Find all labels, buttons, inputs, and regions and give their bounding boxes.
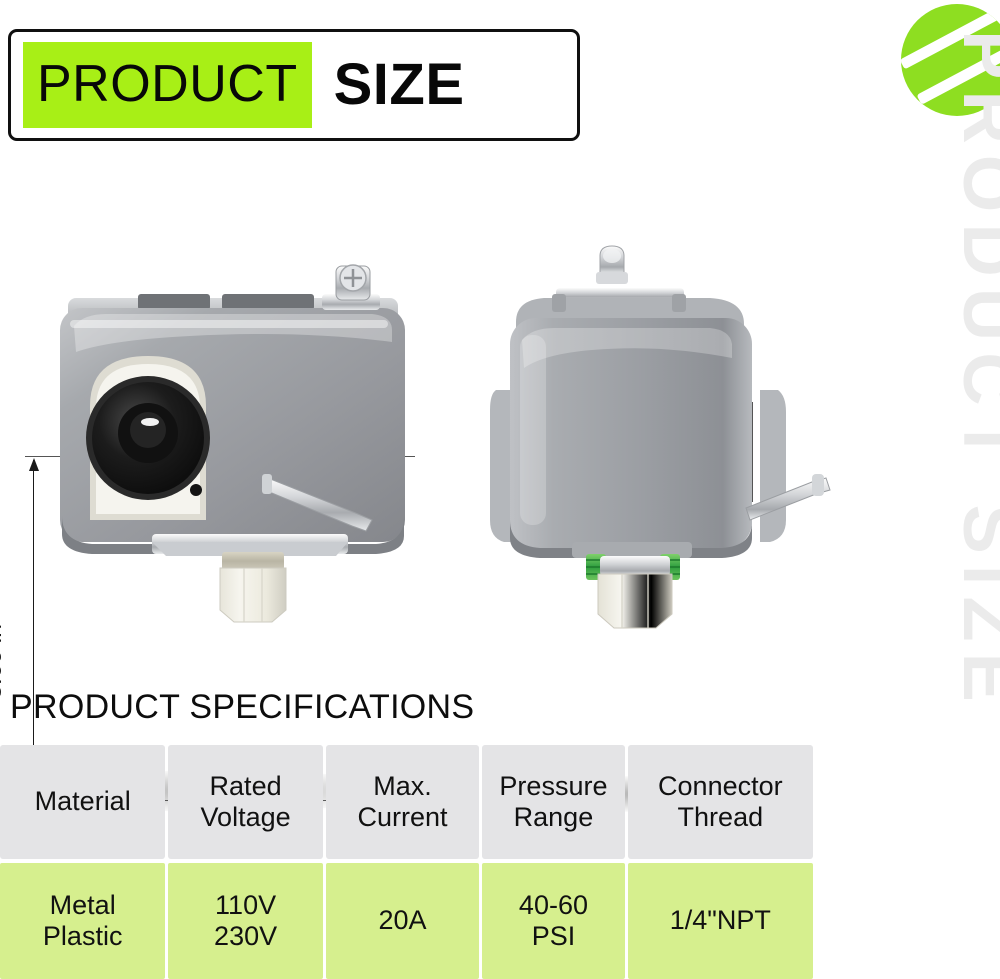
specifications-heading: PRODUCT SPECIFICATIONS: [10, 688, 474, 727]
side-view-product-illustration: [460, 190, 880, 640]
value-line-1: 40-60: [519, 890, 588, 921]
table-header-cell-max-current: Max. Current: [326, 745, 479, 859]
table-value-cell-max-current: 20A: [326, 863, 479, 979]
specifications-table: Material Rated Voltage Max. Current Pres…: [0, 745, 813, 979]
header-line-1: Rated: [201, 771, 291, 802]
header-line-1: Connector: [658, 771, 783, 802]
header-line-2: Range: [499, 802, 607, 833]
value-line-2: 230V: [214, 921, 277, 952]
table-value-cell-material: Metal Plastic: [0, 863, 165, 979]
header-line-2: Thread: [658, 802, 783, 833]
value-line-1: Metal: [43, 890, 123, 921]
banner-word-product: PRODUCT: [37, 58, 298, 110]
table-value-row: Metal Plastic 110V 230V 20A 40-60 PSI: [0, 863, 813, 979]
table-value-cell-rated-voltage: 110V 230V: [168, 863, 322, 979]
table-header-cell-material: Material: [0, 745, 165, 859]
value-line-1: 110V: [214, 890, 277, 921]
header-line-1: Pressure: [499, 771, 607, 802]
value-line-2: PSI: [519, 921, 588, 952]
banner-word-size: SIZE: [334, 56, 465, 114]
value-line-2: Plastic: [43, 921, 123, 952]
header-line-1: Max.: [357, 771, 447, 802]
front-view-product-illustration: [0, 190, 460, 640]
side-view-figure: 2.52 in: [460, 190, 880, 640]
banner-highlight-block: PRODUCT: [23, 42, 312, 128]
table-header-cell-rated-voltage: Rated Voltage: [168, 745, 322, 859]
table-header-cell-connector-thread: Connector Thread: [628, 745, 813, 859]
front-view-figure: 3.54 in 3.66 in: [0, 190, 460, 640]
header-line-2: Voltage: [201, 802, 291, 833]
header-line-2: Current: [357, 802, 447, 833]
product-size-infographic: PRODUCT SIZE PRODUCT SIZE 3.54 in 3.66 i…: [0, 0, 1000, 979]
value-line-1: 20A: [378, 905, 426, 936]
table-header-cell-pressure-range: Pressure Range: [482, 745, 624, 859]
value-line-1: 1/4"NPT: [670, 905, 771, 936]
table-value-cell-connector-thread: 1/4"NPT: [628, 863, 813, 979]
header-banner: PRODUCT SIZE: [8, 29, 580, 141]
header-line-1: Material: [35, 786, 131, 817]
table-header-row: Material Rated Voltage Max. Current Pres…: [0, 745, 813, 859]
table-value-cell-pressure-range: 40-60 PSI: [482, 863, 624, 979]
watermark-text: PRODUCT SIZE: [947, 30, 1000, 670]
